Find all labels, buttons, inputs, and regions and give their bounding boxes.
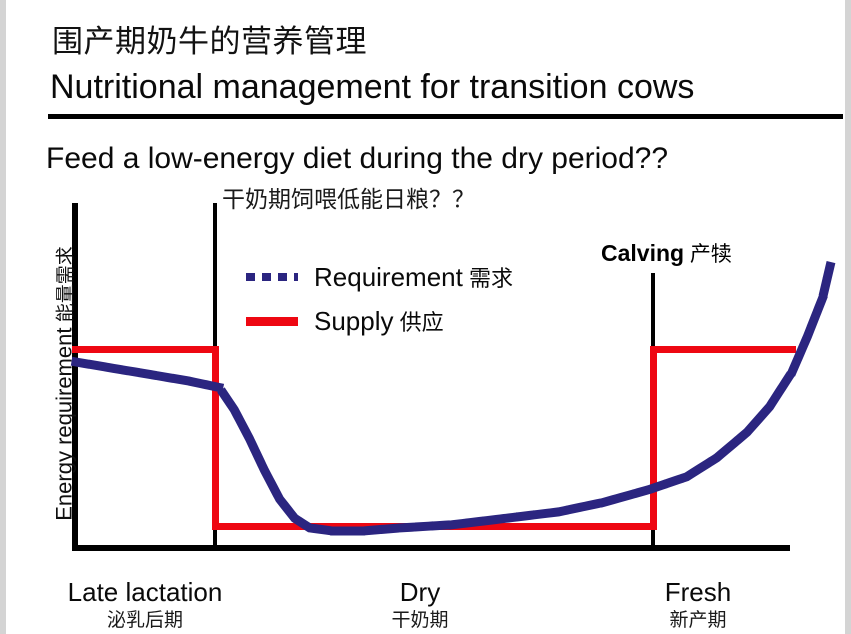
legend-label-requirement: Requirement 需求 [314,261,513,293]
dotted-line-swatch-icon [246,273,298,281]
x-caption-fresh-en: Fresh [608,576,788,608]
x-axis-caption-fresh: Fresh 新产期 [608,576,788,634]
x-caption-fresh-cn: 新产期 [608,608,788,634]
legend-item-supply: Supply 供应 [246,299,513,343]
x-caption-late-cn: 泌乳后期 [38,608,252,634]
solid-line-swatch-icon [246,317,298,326]
calving-annotation: Calving 产犊 [601,238,732,268]
x-axis-caption-late-lactation: Late lactation 泌乳后期 [38,576,252,634]
energy-requirement-chart: Energy requirement 能量需求 Requirement 需求 S… [0,0,851,634]
x-caption-dry-cn: 干奶期 [330,608,510,634]
legend-label-supply: Supply 供应 [314,305,444,337]
x-axis-caption-dry: Dry 干奶期 [330,576,510,634]
chart-legend: Requirement 需求 Supply 供应 [246,255,513,343]
legend-item-requirement: Requirement 需求 [246,255,513,299]
calving-label-english: Calving [601,240,684,266]
x-caption-dry-en: Dry [330,576,510,608]
calving-label-chinese: 产犊 [684,243,732,266]
x-caption-late-en: Late lactation [38,576,252,608]
